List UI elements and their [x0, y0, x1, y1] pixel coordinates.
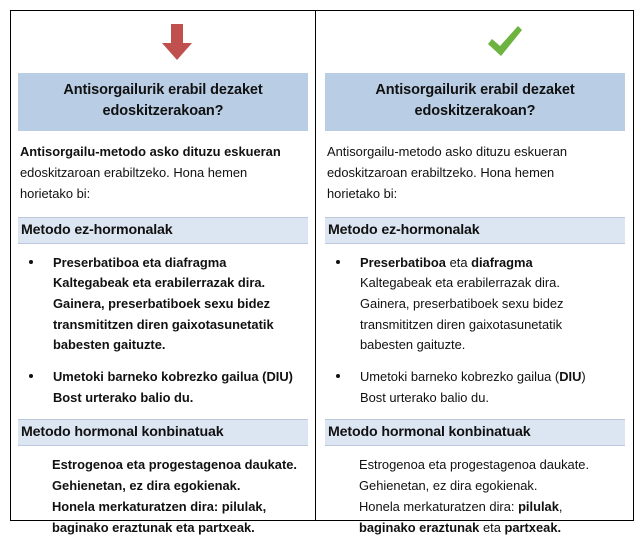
panel-right-correct: Antisorgailurik erabil dezaket edoskitze… — [316, 11, 633, 520]
bullet-term: DIU — [559, 369, 581, 384]
tail-term: pilulak — [518, 499, 559, 514]
tail-term: baginako eraztunak — [359, 520, 479, 535]
tail-line: Estrogenoa eta progestagenoa daukate. — [52, 455, 307, 476]
section-header-non-hormonal: Metodo ez-hormonalak — [18, 217, 308, 244]
non-hormonal-list: Preserbatiboa eta diafragma Kaltegabeak … — [11, 244, 315, 408]
tail-text: , — [559, 499, 563, 514]
intro-line-1: Antisorgailu-metodo asko dituzu eskueran — [327, 144, 567, 159]
bullet-line: Preserbatiboa eta diafragma — [53, 253, 307, 274]
section-header-hormonal: Metodo hormonal konbinatuak — [325, 419, 625, 446]
bullet-text: Umetoki barneko kobrezko gailua ( — [360, 369, 559, 384]
intro-line-2: edoskitzaroan erabiltzeko. Hona hemen — [327, 165, 554, 180]
section-header-hormonal: Metodo hormonal konbinatuak — [18, 419, 308, 446]
bullet-line: transmititzen diren gaixotasunetatik — [53, 315, 307, 336]
page-title: Antisorgailurik erabil dezaket edoskitze… — [325, 73, 625, 131]
bullet-dot-icon — [29, 374, 33, 378]
non-hormonal-list: Preserbatiboa eta diafragma Kaltegabeak … — [316, 244, 633, 408]
list-item: Preserbatiboa eta diafragma Kaltegabeak … — [327, 253, 625, 356]
bullet-dot-icon — [29, 260, 33, 264]
hormonal-paragraph: Estrogenoa eta progestagenoa daukate. Ge… — [316, 446, 633, 539]
page-title: Antisorgailurik erabil dezaket edoskitze… — [18, 73, 308, 131]
tail-line: baginako eraztunak eta partxeak. — [359, 518, 625, 539]
bullet-line: transmititzen diren gaixotasunetatik — [360, 315, 625, 336]
right-icon-row — [316, 11, 633, 73]
intro-paragraph: Antisorgailu-metodo asko dituzu eskueran… — [11, 131, 315, 211]
list-item: Umetoki barneko kobrezko gailua (DIU) Bo… — [327, 367, 625, 408]
bullet-line: babesten gaituzte. — [53, 335, 307, 356]
bullet-line: Bost urterako balio du. — [53, 388, 307, 409]
check-icon — [485, 24, 525, 60]
intro-line-2: edoskitzaroan erabiltzeko. Hona hemen — [20, 165, 247, 180]
panel-left-incorrect: Antisorgailurik erabil dezaket edoskitze… — [11, 11, 316, 520]
bullet-conj: eta — [446, 255, 471, 270]
bullet-line: Umetoki barneko kobrezko gailua (DIU) — [360, 367, 625, 388]
tail-text: Honela merkaturatzen dira: — [359, 499, 518, 514]
bullet-dot-icon — [336, 374, 340, 378]
tail-term: partxeak. — [504, 520, 561, 535]
bullet-line: Gainera, preserbatiboek sexu bidez — [360, 294, 625, 315]
bullet-text: ) — [581, 369, 585, 384]
tail-conj: eta — [479, 520, 504, 535]
bullet-line: Preserbatiboa eta diafragma — [360, 253, 625, 274]
tail-line: Honela merkaturatzen dira: pilulak, — [52, 497, 307, 518]
bullet-line: Gainera, preserbatiboek sexu bidez — [53, 294, 307, 315]
arrow-down-icon — [160, 22, 194, 62]
comparison-frame: Antisorgailurik erabil dezaket edoskitze… — [10, 10, 634, 521]
bullet-line: Kaltegabeak eta erabilerrazak dira. — [53, 273, 307, 294]
tail-line: baginako eraztunak eta partxeak. — [52, 518, 307, 539]
tail-line: Gehienetan, ez dira egokienak. — [359, 476, 625, 497]
intro-line-3: horietako bi: — [327, 186, 397, 201]
intro-paragraph: Antisorgailu-metodo asko dituzu eskueran… — [316, 131, 633, 211]
bullet-dot-icon — [336, 260, 340, 264]
bullet-line: Kaltegabeak eta erabilerrazak dira. — [360, 273, 625, 294]
intro-line-3: horietako bi: — [20, 186, 90, 201]
list-item: Umetoki barneko kobrezko gailua (DIU) Bo… — [20, 367, 307, 408]
intro-line-1: Antisorgailu-metodo asko dituzu eskueran — [20, 144, 281, 159]
list-item: Preserbatiboa eta diafragma Kaltegabeak … — [20, 253, 307, 356]
bullet-line: babesten gaituzte. — [360, 335, 625, 356]
bullet-line: Umetoki barneko kobrezko gailua (DIU) — [53, 367, 307, 388]
tail-line: Gehienetan, ez dira egokienak. — [52, 476, 307, 497]
tail-line: Honela merkaturatzen dira: pilulak, — [359, 497, 625, 518]
tail-line: Estrogenoa eta progestagenoa daukate. — [359, 455, 625, 476]
bullet-line: Bost urterako balio du. — [360, 388, 625, 409]
bullet-term: diafragma — [471, 255, 533, 270]
bullet-term: Preserbatiboa — [360, 255, 446, 270]
section-header-non-hormonal: Metodo ez-hormonalak — [325, 217, 625, 244]
left-icon-row — [11, 11, 315, 73]
hormonal-paragraph: Estrogenoa eta progestagenoa daukate. Ge… — [11, 446, 315, 539]
